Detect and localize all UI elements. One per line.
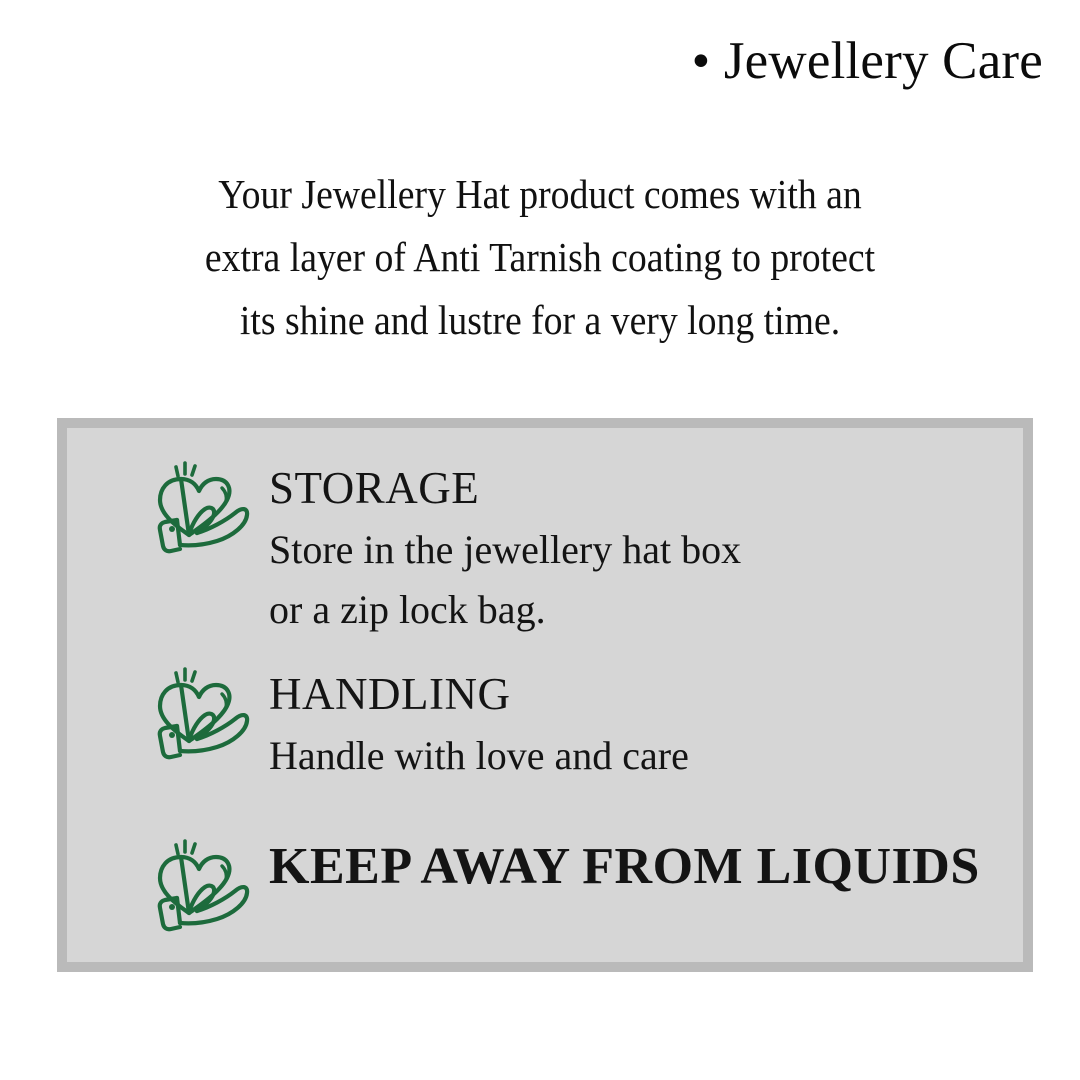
heart-in-hand-icon [147,450,255,554]
intro-line-2: extra layer of Anti Tarnish coating to p… [98,226,981,289]
intro-paragraph: Your Jewellery Hat product comes with an… [98,163,981,352]
care-item-storage: STORAGE Store in the jewellery hat box o… [147,450,741,640]
care-item-text: HANDLING Handle with love and care [269,656,689,786]
care-desc-line: Store in the jewellery hat box [269,520,741,580]
care-item-heading: HANDLING [269,669,510,719]
care-item-handling: HANDLING Handle with love and care [147,656,689,786]
care-item-heading: KEEP AWAY FROM LIQUIDS [269,838,980,895]
care-item-description: Handle with love and care [269,726,689,786]
care-item-keep-away-from-liquids: KEEP AWAY FROM LIQUIDS [147,828,980,932]
intro-line-1: Your Jewellery Hat product comes with an [98,163,981,226]
care-item-text: KEEP AWAY FROM LIQUIDS [269,828,980,896]
care-desc-line: or a zip lock bag. [269,580,741,640]
heart-in-hand-icon [147,656,255,760]
care-instructions-list: STORAGE Store in the jewellery hat box o… [67,428,1023,962]
intro-line-3: its shine and lustre for a very long tim… [98,289,981,352]
heart-in-hand-icon [147,828,255,932]
care-desc-line: Handle with love and care [269,726,689,786]
care-item-heading: STORAGE [269,463,479,513]
care-instructions-panel: STORAGE Store in the jewellery hat box o… [57,418,1033,972]
page-title: • Jewellery Care [0,28,1043,94]
care-item-description: Store in the jewellery hat box or a zip … [269,520,741,640]
care-item-text: STORAGE Store in the jewellery hat box o… [269,450,741,640]
